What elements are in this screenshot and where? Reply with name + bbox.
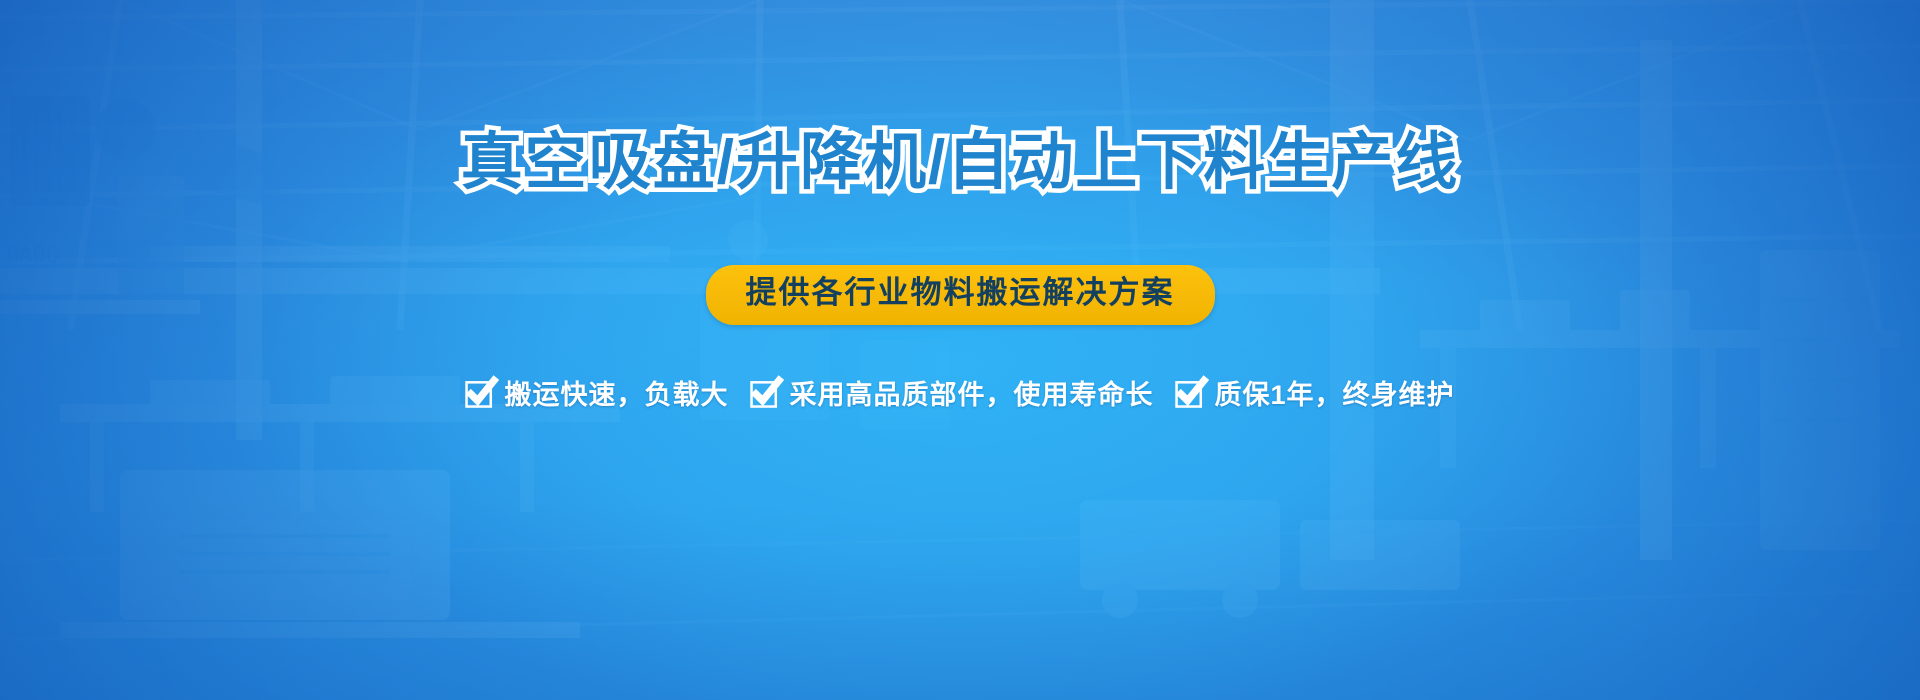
cta-wrapper: 提供各行业物料搬运解决方案 — [706, 265, 1215, 325]
feature-item-warranty: 质保1年，终身维护 — [1175, 373, 1454, 412]
feature-label: 质保1年，终身维护 — [1214, 373, 1454, 412]
banner-content: 真空吸盘/升降机/自动上下料生产线 提供各行业物料搬运解决方案 搬运快速，负载大 — [0, 0, 1920, 700]
checkbox-check-icon — [1175, 377, 1206, 408]
checkbox-check-icon — [465, 377, 496, 408]
banner-headline: 真空吸盘/升降机/自动上下料生产线 — [461, 128, 1459, 197]
checkbox-check-icon — [750, 377, 781, 408]
solution-cta-button[interactable]: 提供各行业物料搬运解决方案 — [706, 265, 1215, 325]
feature-item-quality: 采用高品质部件，使用寿命长 — [750, 373, 1153, 412]
hero-banner: BA06 — [0, 0, 1920, 700]
feature-item-speed: 搬运快速，负载大 — [465, 373, 728, 412]
feature-label: 搬运快速，负载大 — [504, 373, 728, 412]
feature-label: 采用高品质部件，使用寿命长 — [789, 373, 1153, 412]
feature-list: 搬运快速，负载大 采用高品质部件，使用寿命长 — [465, 373, 1454, 412]
